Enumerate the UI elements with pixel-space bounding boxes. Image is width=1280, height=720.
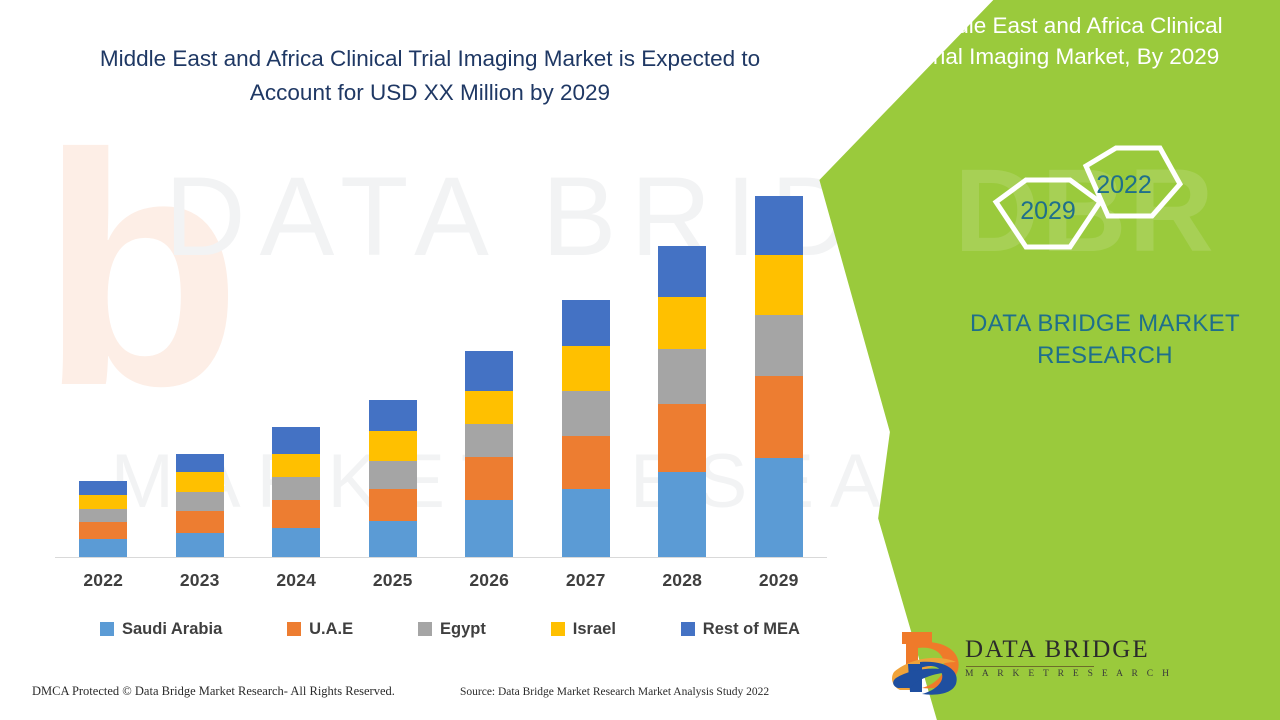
footer: DMCA Protected © Data Bridge Market Rese… (0, 684, 860, 708)
x-axis-label: 2024 (248, 570, 344, 598)
legend-swatch-icon (287, 622, 301, 636)
logo-mark-icon (892, 628, 972, 696)
logo-wordmark: DATA BRIDGE M A R K E T R E S E A R C H (965, 636, 1172, 679)
bar-segment (176, 492, 224, 510)
bar-segment (79, 481, 127, 496)
bar-segment (562, 300, 610, 346)
bar-column (55, 481, 151, 557)
logo-name: DATA BRIDGE (965, 636, 1172, 664)
legend-swatch-icon (681, 622, 695, 636)
stacked-bar (272, 427, 320, 557)
bar-segment (369, 489, 417, 521)
hexagon-svg: 2029 2022 (980, 140, 1190, 290)
stacked-bar (562, 300, 610, 557)
bar-segment (176, 533, 224, 557)
bar-segment (369, 521, 417, 557)
bar-segment (272, 500, 320, 528)
logo-tagline: M A R K E T R E S E A R C H (965, 669, 1172, 679)
x-axis-label: 2029 (731, 570, 827, 598)
x-axis-label: 2023 (152, 570, 248, 598)
bar-segment (658, 297, 706, 349)
stacked-bar (79, 481, 127, 557)
legend-item[interactable]: U.A.E (287, 620, 353, 639)
bar-segment (658, 472, 706, 557)
bar-segment (755, 196, 803, 255)
x-axis-label: 2026 (441, 570, 537, 598)
x-axis-label: 2028 (634, 570, 730, 598)
bar-segment (755, 255, 803, 315)
bar-segment (465, 391, 513, 424)
logo-divider (966, 666, 1094, 667)
bar-column (248, 427, 344, 557)
legend-label: Saudi Arabia (122, 620, 222, 639)
legend-label: Rest of MEA (703, 620, 800, 639)
bar-segment (79, 522, 127, 538)
panel-brand-line-2: RESEARCH (940, 340, 1270, 372)
legend-item[interactable]: Saudi Arabia (100, 620, 222, 639)
x-axis-label: 2027 (538, 570, 634, 598)
bar-segment (562, 489, 610, 557)
bar-segment (658, 404, 706, 472)
bar-segment (272, 528, 320, 557)
legend-label: U.A.E (309, 620, 353, 639)
bar-segment (176, 472, 224, 492)
stacked-bar (369, 400, 417, 557)
bar-column (634, 246, 730, 557)
bar-segment (369, 400, 417, 431)
legend-swatch-icon (551, 622, 565, 636)
legend-swatch-icon (418, 622, 432, 636)
legend-label: Egypt (440, 620, 486, 639)
bar-segment (658, 246, 706, 296)
x-axis-label: 2025 (345, 570, 441, 598)
hexagon-badges: 2029 2022 (980, 140, 1190, 290)
stacked-bar (658, 246, 706, 557)
bar-segment (79, 509, 127, 523)
bar-segment (465, 351, 513, 391)
stacked-bar (465, 351, 513, 557)
source-text: Source: Data Bridge Market Research Mark… (460, 686, 769, 698)
bar-segment (272, 477, 320, 500)
bar-segment (562, 346, 610, 391)
stacked-bar (176, 454, 224, 558)
bar-column (731, 196, 827, 557)
stacked-bar-chart (55, 170, 827, 557)
copyright-text: DMCA Protected © Data Bridge Market Rese… (32, 684, 395, 699)
bar-column (441, 351, 537, 557)
bar-segment (562, 391, 610, 436)
panel-brand-line-1: DATA BRIDGE MARKET (940, 308, 1270, 340)
x-axis-line (55, 557, 827, 558)
legend-label: Israel (573, 620, 616, 639)
bar-segment (658, 349, 706, 404)
legend-item[interactable]: Israel (551, 620, 616, 639)
legend-item[interactable]: Egypt (418, 620, 486, 639)
bar-segment (465, 457, 513, 500)
hexagon-2029-label: 2029 (1020, 197, 1076, 225)
x-axis-labels: 20222023202420252026202720282029 (55, 570, 827, 598)
bar-segment (755, 376, 803, 458)
x-axis-label: 2022 (55, 570, 151, 598)
bar-segment (272, 427, 320, 453)
legend-item[interactable]: Rest of MEA (681, 620, 800, 639)
bar-segment (369, 461, 417, 489)
chart-legend: Saudi ArabiaU.A.EEgyptIsraelRest of MEA (100, 616, 800, 642)
bar-segment (465, 424, 513, 458)
panel-brand-text: DATA BRIDGE MARKET RESEARCH (940, 308, 1270, 372)
bar-segment (79, 539, 127, 557)
bar-segment (465, 500, 513, 557)
bar-column (538, 300, 634, 557)
bar-segment (755, 315, 803, 376)
infographic-canvas: b DATA BRIDGE MARKET RESEARCH Middle Eas… (0, 0, 1280, 720)
panel-title: Middle East and Africa Clinical Trial Im… (920, 10, 1265, 72)
bar-column (152, 454, 248, 558)
hexagon-2022-label: 2022 (1096, 171, 1152, 199)
bar-segment (176, 454, 224, 472)
bar-segment (369, 431, 417, 461)
bar-segment (755, 458, 803, 557)
page-title: Middle East and Africa Clinical Trial Im… (70, 42, 790, 110)
bar-column (345, 400, 441, 557)
stacked-bar (755, 196, 803, 557)
bar-segment (176, 511, 224, 533)
bar-segment (272, 454, 320, 477)
bar-segment (79, 495, 127, 509)
legend-swatch-icon (100, 622, 114, 636)
bar-segment (562, 436, 610, 489)
